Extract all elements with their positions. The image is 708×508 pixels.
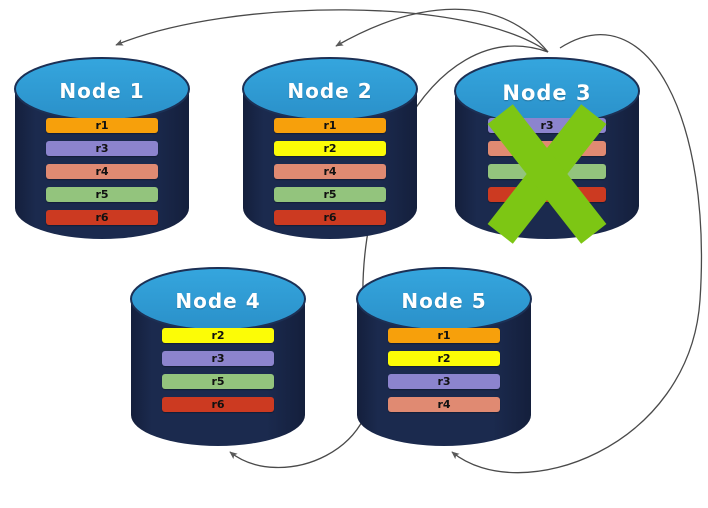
node-4[interactable]: Node 4 r2r3r5r6 [130,266,306,448]
replica-bar: r6 [274,210,386,225]
replica-bar: r4 [46,164,158,179]
replica-bar: r6 [162,397,274,412]
replica-bar [488,141,606,156]
replica-bar: r3 [46,141,158,156]
replica-bar [488,187,606,202]
node-5[interactable]: Node 5 r1r2r3r4 [356,266,532,448]
replica-bar: r5 [46,187,158,202]
edge-node-3-to-node-1 [116,10,548,52]
replica-bar: r1 [388,328,500,343]
diagram-canvas: Node 1 r1r3r4r5r6 Node 2 r1r2r4r5r6 Node… [0,0,708,508]
node-2[interactable]: Node 2 r1r2r4r5r6 [242,56,418,241]
replica-bar [488,164,606,179]
node-1[interactable]: Node 1 r1r3r4r5r6 [14,56,190,241]
replica-bar: r3 [162,351,274,366]
replica-bar: r3 [388,374,500,389]
replica-bar: r4 [388,397,500,412]
replica-bar: r2 [274,141,386,156]
replica-bar: r5 [274,187,386,202]
replica-bar: r1 [46,118,158,133]
replica-bar: r1 [274,118,386,133]
replica-bar: r3 [488,118,606,133]
replica-bar: r2 [388,351,500,366]
replica-bar: r4 [274,164,386,179]
replica-bar: r2 [162,328,274,343]
replica-bar: r6 [46,210,158,225]
node-3[interactable]: Node 3 r3 [454,56,640,241]
replica-bar: r5 [162,374,274,389]
